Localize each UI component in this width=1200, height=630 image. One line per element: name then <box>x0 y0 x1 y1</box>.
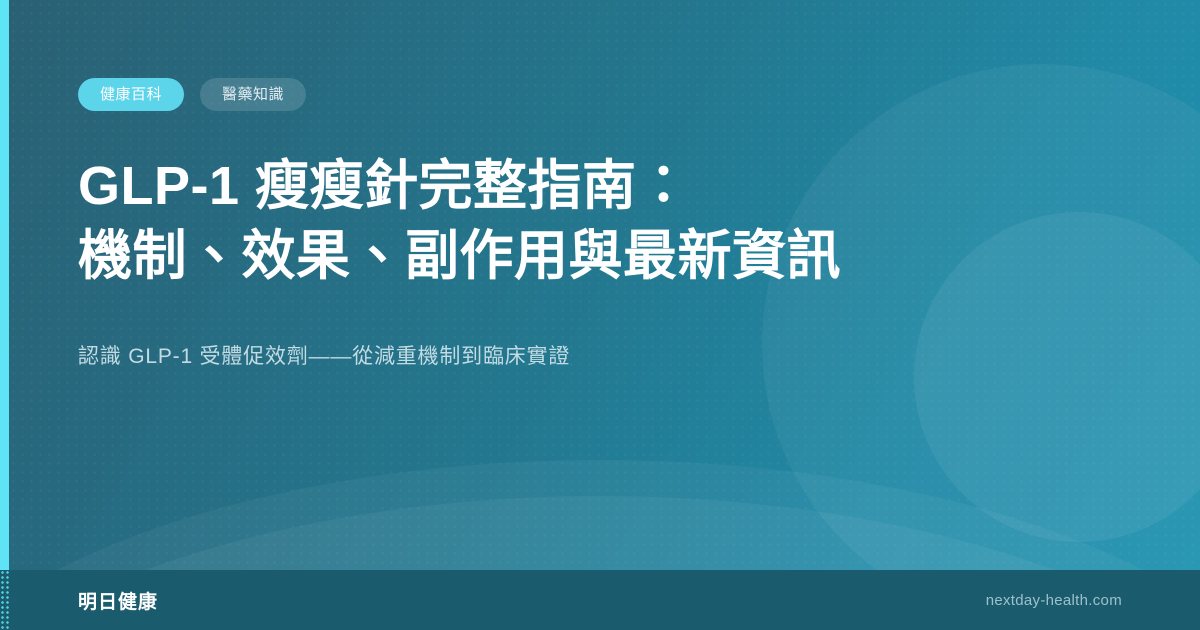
page-title-line-2: 機制、效果、副作用與最新資訊 <box>78 221 1078 291</box>
footer-site-url: nextday-health.com <box>986 592 1122 609</box>
badge-medical-knowledge[interactable]: 醫藥知識 <box>200 78 306 111</box>
category-badge-row: 健康百科 醫藥知識 <box>78 78 1120 111</box>
page-title-line-1: GLP-1 瘦瘦針完整指南： <box>78 151 1078 221</box>
badge-health-encyclopedia[interactable]: 健康百科 <box>78 78 184 111</box>
footer-dot-pattern <box>0 570 11 630</box>
page-subtitle: 認識 GLP-1 受體促效劑——從減重機制到臨床實證 <box>78 341 1120 373</box>
og-hero-card: 健康百科 醫藥知識 GLP-1 瘦瘦針完整指南： 機制、效果、副作用與最新資訊 … <box>0 0 1200 630</box>
card-footer: 明日健康 nextday-health.com <box>0 570 1200 630</box>
page-title: GLP-1 瘦瘦針完整指南： 機制、效果、副作用與最新資訊 <box>78 151 1078 291</box>
card-content: 健康百科 醫藥知識 GLP-1 瘦瘦針完整指南： 機制、效果、副作用與最新資訊 … <box>0 0 1200 570</box>
footer-brand-name: 明日健康 <box>78 587 158 614</box>
